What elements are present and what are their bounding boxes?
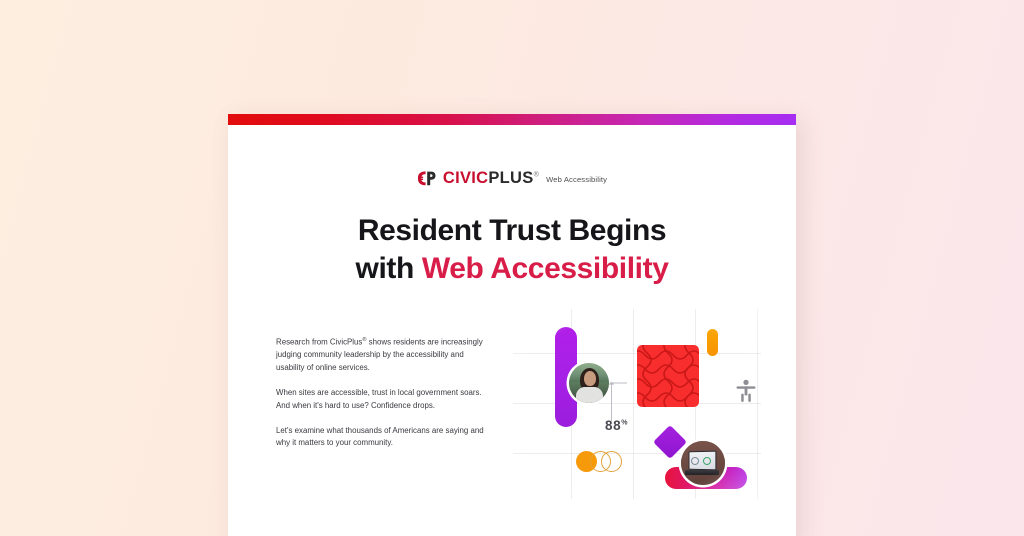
orange-circle-outline-2 [601, 451, 622, 472]
paragraph-2: When sites are accessible, trust in loca… [276, 387, 488, 413]
civicplus-cp-mark-icon [417, 171, 436, 186]
stat-88-percent: 88% [605, 419, 627, 433]
laptop-photo-circle [681, 441, 725, 485]
orange-pill [707, 329, 718, 356]
brand-word-plus: PLUS [488, 169, 533, 187]
accessibility-collage: 88% [513, 309, 761, 499]
headline-line-1: Resident Trust Begins [358, 214, 666, 247]
connector-arrow-line [609, 381, 631, 421]
document-card: CIVICPLUS® Web Accessibility Resident Tr… [228, 114, 796, 536]
stat-value: 88 [605, 418, 621, 433]
red-wavy-pattern-square [637, 345, 699, 407]
portrait-photo-circle [569, 363, 609, 403]
headline-line-2-prefix: with [356, 252, 422, 285]
orange-circles-group [576, 451, 624, 473]
brand-registered-mark: ® [534, 172, 539, 179]
brand-wordmark: CIVICPLUS® [443, 170, 539, 187]
paragraph-1: Research from CivicPlus® shows residents… [276, 336, 488, 375]
brand-word-civic: CIVIC [443, 169, 489, 187]
gradient-accent-bar [228, 114, 796, 125]
portrait-body [576, 387, 603, 403]
brand-tagline: Web Accessibility [546, 172, 607, 184]
paragraph-1-text-a: Research from CivicPlus [276, 338, 362, 347]
paragraph-3: Let's examine what thousands of American… [276, 425, 488, 451]
laptop-keyboard-base [685, 470, 719, 475]
accessibility-person-icon [735, 379, 757, 403]
page-title: Resident Trust Begins with Web Accessibi… [228, 212, 796, 289]
laptop-screen-widget-right [703, 457, 711, 465]
intro-copy: Research from CivicPlus® shows residents… [276, 336, 488, 450]
headline-line-2-accent: Web Accessibility [422, 252, 669, 285]
brand-lockup: CIVICPLUS® Web Accessibility [228, 170, 796, 187]
stat-unit: % [621, 420, 627, 427]
laptop-screen-widget-left [691, 457, 699, 465]
portrait-face [584, 371, 596, 386]
